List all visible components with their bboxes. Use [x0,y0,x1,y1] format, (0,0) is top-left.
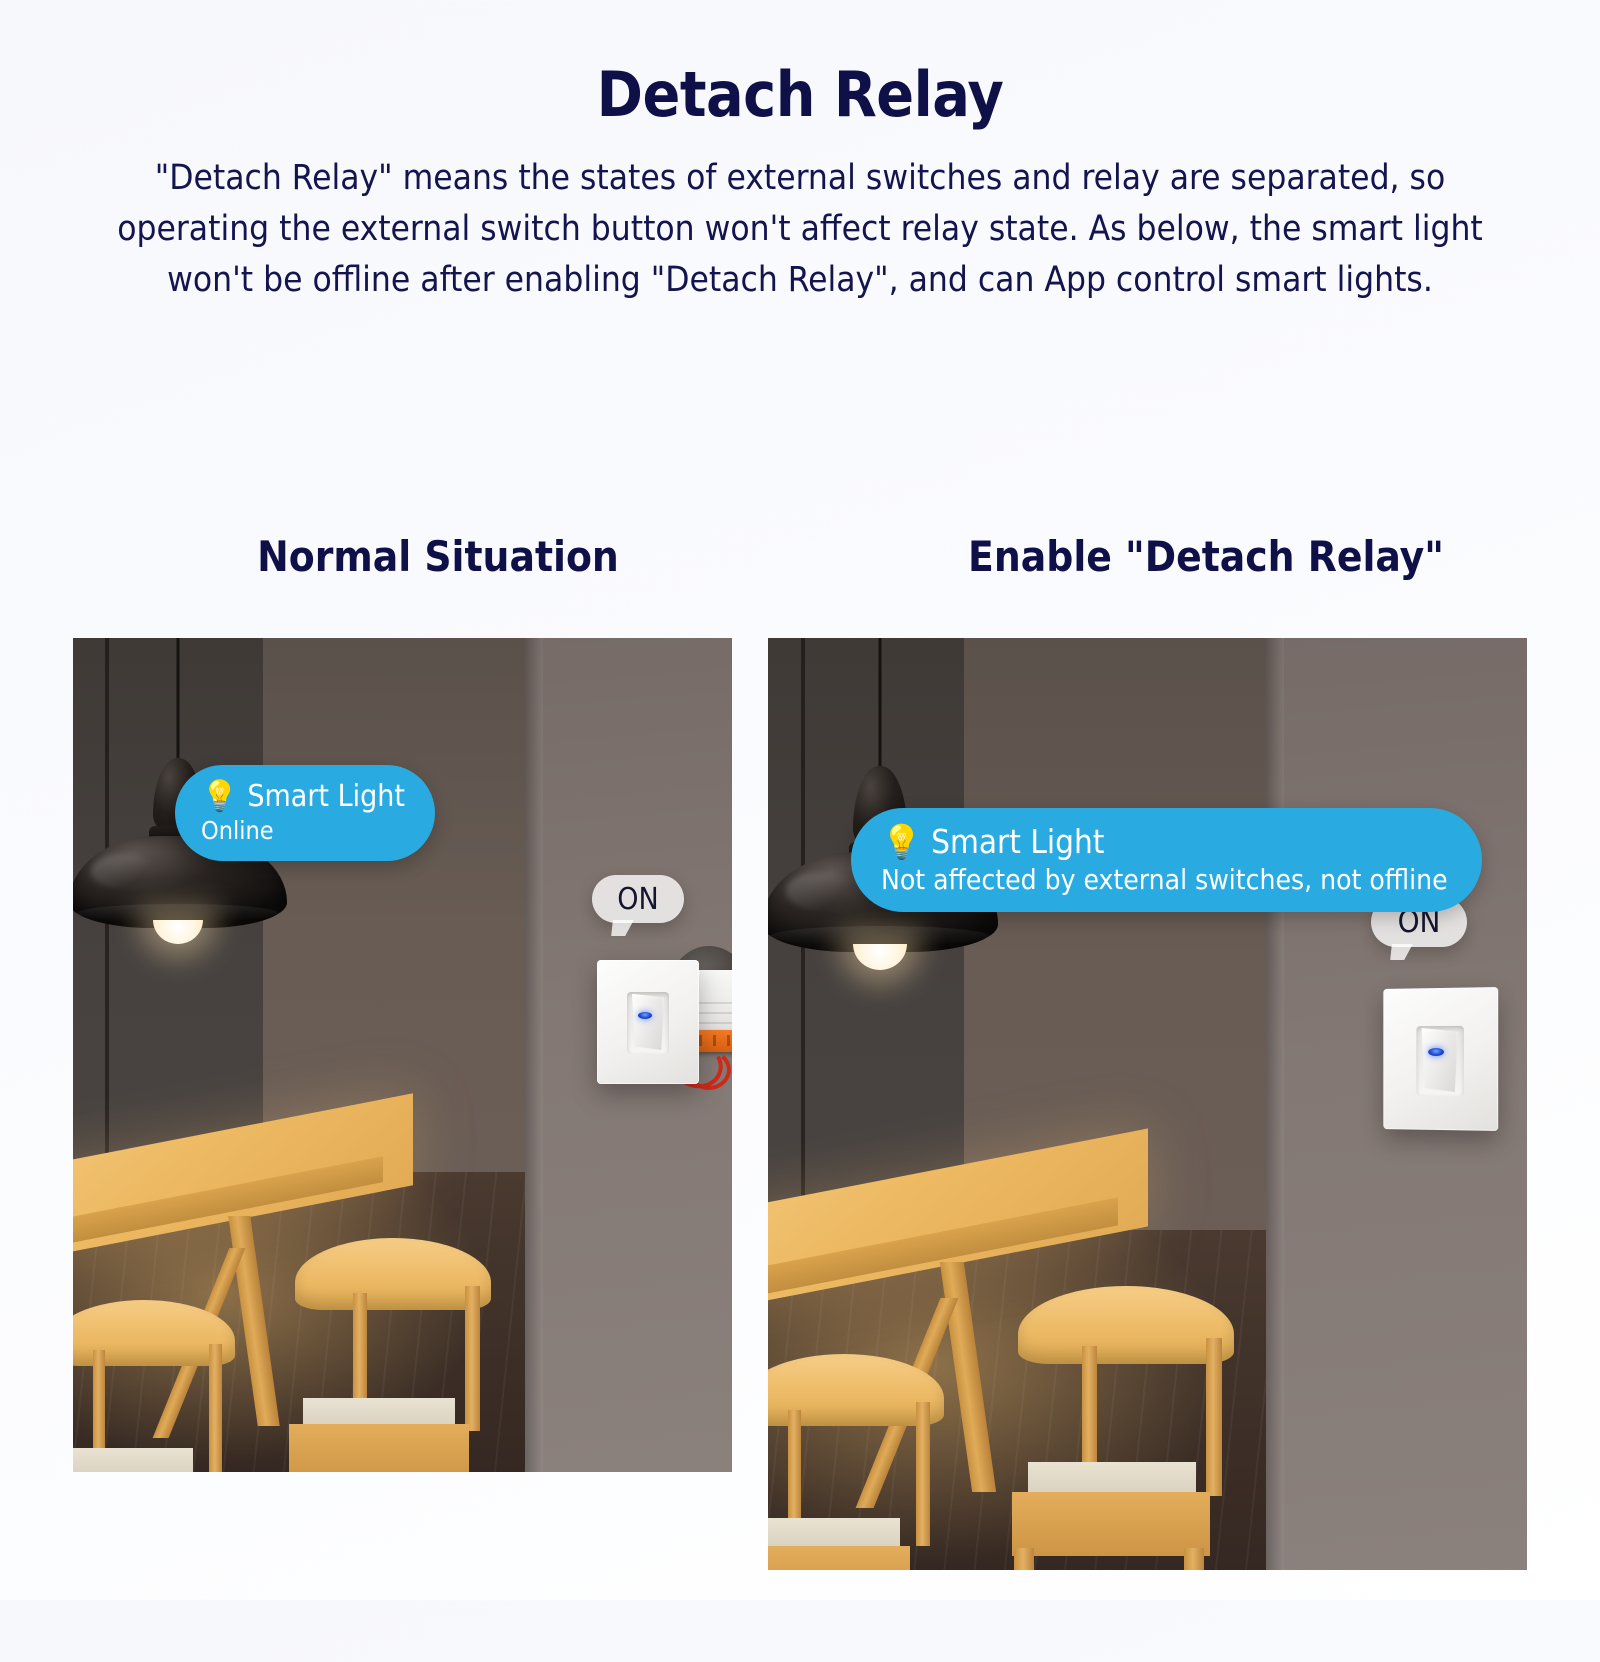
chair-post-right [916,1402,930,1546]
chair-post-right [1206,1338,1222,1496]
illustration-detach-relay: ON [768,638,1527,1570]
lamp-cord [177,638,180,766]
page-description: "Detach Relay" means the states of exter… [100,153,1500,305]
badge-title-row: 💡 Smart Light [201,779,405,814]
wall-corner-edge [525,638,543,1472]
lamp-bulb [853,944,907,970]
light-bulb-icon: 💡 [881,825,922,858]
chair-front [295,1238,525,1472]
room-scene-left [73,638,732,1472]
lamp-bulb [153,920,203,944]
chair-seat [73,1448,193,1472]
chair-back [1018,1286,1234,1364]
illustration-normal-situation: ON [73,638,732,1472]
switch-state-bubble: ON [592,875,684,923]
badge-status: Not affected by external switches, not o… [881,863,1448,896]
chair-front [1018,1286,1274,1556]
chair-back-left [768,1354,964,1570]
smart-light-status-badge-detach: 💡 Smart Light Not affected by external s… [851,808,1482,912]
smart-light-status-badge-normal: 💡 Smart Light Online [175,765,435,861]
badge-title: Smart Light [247,779,405,814]
chair-post-right [465,1286,480,1431]
chair-leg-front-right [1184,1548,1204,1570]
wall-switch-plate [1383,987,1498,1131]
rocker-switch[interactable] [630,994,664,1050]
status-led-icon [638,1012,652,1019]
section-headings: Normal Situation Enable "Detach Relay" [0,532,1600,581]
chair-apron [1012,1492,1210,1556]
light-bulb-icon: 💡 [201,782,238,812]
chair-apron [768,1546,910,1570]
section-heading-detach: Enable "Detach Relay" [835,532,1577,581]
badge-status: Online [201,816,405,845]
chair-post-right [209,1344,222,1472]
lamp-shade-highlight [786,872,857,910]
section-heading-normal: Normal Situation [73,532,803,581]
badge-title: Smart Light [931,822,1104,861]
chair-leg-front-left [1014,1548,1034,1570]
lamp-cord [879,638,882,774]
lamp-shade-highlight [91,854,156,889]
rocker-switch[interactable] [1419,1028,1458,1092]
chair-back-left [73,1300,253,1472]
wall-switch-plate [597,960,699,1084]
chair-apron [289,1424,469,1472]
badge-title-row: 💡 Smart Light [881,822,1448,861]
chair-back [295,1238,491,1310]
page-title: Detach Relay [0,62,1600,127]
status-led-icon [1428,1048,1444,1056]
room-scene-right [768,638,1527,1570]
lamp-shade-rim [771,926,988,946]
